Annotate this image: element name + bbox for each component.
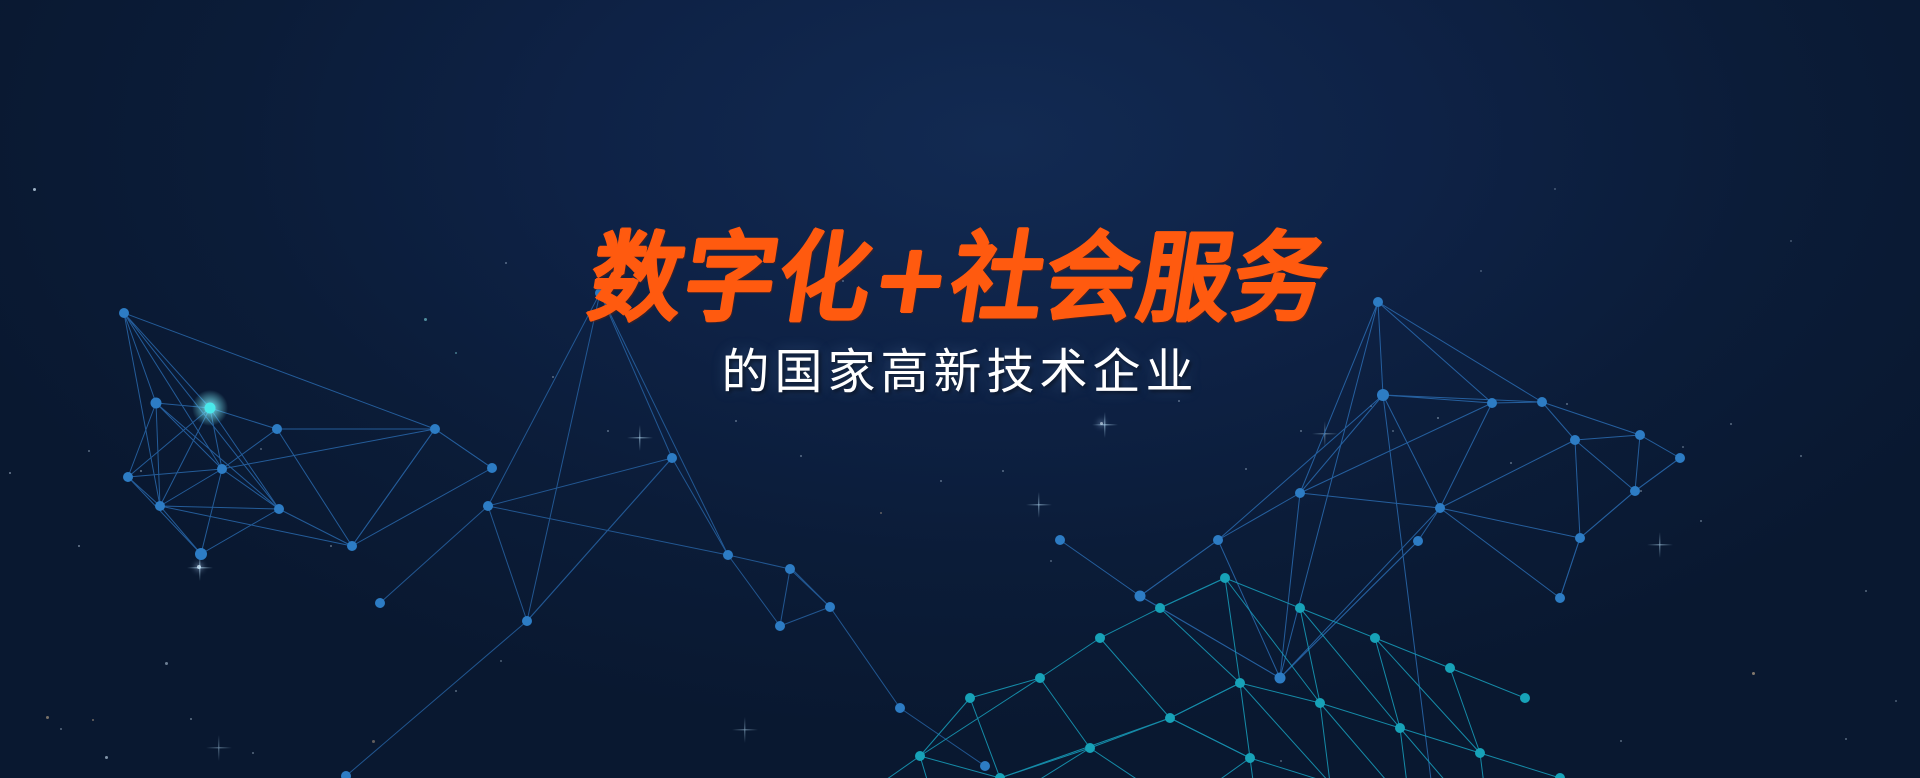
hero-text-block: 数字化+社会服务 的国家高新技术企业 <box>0 232 1920 401</box>
mesh-edges-dense <box>300 578 1560 778</box>
page-subtitle: 的国家高新技术企业 <box>0 344 1920 402</box>
page-title: 数字化+社会服务 <box>584 229 1337 328</box>
star-particle <box>33 188 36 191</box>
mesh-nodes-teal <box>15 573 1565 778</box>
hero-banner: 数字化+社会服务 的国家高新技术企业 <box>0 0 1920 778</box>
star-particle <box>1554 188 1556 190</box>
